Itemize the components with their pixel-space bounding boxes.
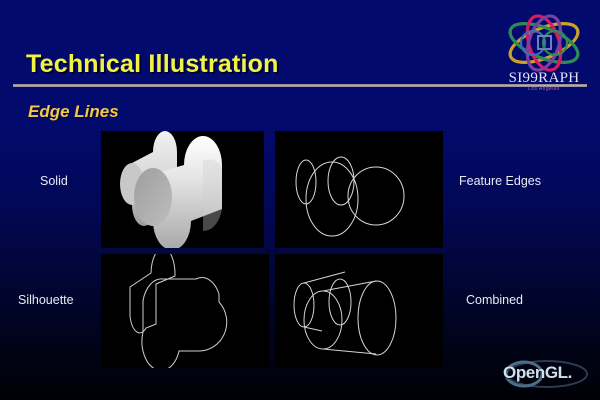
combined-render [275,254,443,368]
siggraph-city-label: Los Angeles [495,86,593,92]
caption-silhouette: Silhouette [18,293,74,307]
feature-edges-render [275,131,443,248]
solid-cylinders-render [101,131,264,248]
slide-canvas: Technical Illustration Edge Lines SI99RA… [0,0,600,400]
caption-feature-edges: Feature Edges [459,174,541,188]
opengl-logo: OpenGL. [503,360,595,394]
page-title: Technical Illustration [26,50,279,79]
silhouette-render [101,254,269,368]
panel-combined [275,254,443,368]
siggraph-logo: SI99RAPH Los Angeles [495,12,593,100]
caption-solid: Solid [40,174,68,188]
panel-solid [101,131,264,248]
panel-silhouette [101,254,269,368]
caption-combined: Combined [466,293,523,307]
opengl-wordmark: OpenGL. [503,363,595,383]
siggraph-wordmark: SI99RAPH [495,70,593,87]
siggraph-rings-icon [503,12,585,74]
panel-feature-edges [275,131,443,248]
section-subtitle: Edge Lines [28,102,119,122]
